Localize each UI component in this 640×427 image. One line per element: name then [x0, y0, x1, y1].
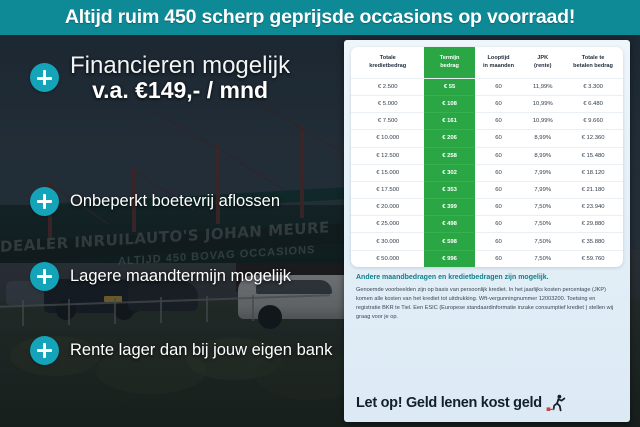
- plus-icon: [30, 63, 59, 92]
- table-row: € 20.000€ 399607,50%€ 23.940: [351, 199, 623, 216]
- table-cell-2: 60: [475, 130, 523, 147]
- table-cell-4: € 15.480: [563, 147, 623, 164]
- table-cell-1: € 55: [424, 78, 474, 95]
- table-cell-3: 11,99%: [522, 78, 563, 95]
- disclaimer-heading: Andere maandbedragen en kredietbedragen …: [356, 273, 618, 282]
- benefit-label: Lagere maandtermijn mogelijk: [70, 267, 291, 286]
- benefit-item-maandtermijn: Lagere maandtermijn mogelijk: [30, 262, 291, 291]
- table-row: € 17.500€ 353607,99%€ 21.180: [351, 181, 623, 198]
- table-cell-3: 8,99%: [522, 130, 563, 147]
- column-header-3: JPK(rente): [522, 47, 563, 78]
- table-cell-3: 10,99%: [522, 113, 563, 130]
- benefit-label: Onbeperkt boetevrij aflossen: [70, 192, 280, 211]
- column-header-4: Totale tebetalen bedrag: [563, 47, 623, 78]
- financing-headline-line2: v.a. €149,- / mnd: [70, 78, 290, 102]
- table-row: € 30.000€ 598607,50%€ 35.880: [351, 233, 623, 250]
- banner-headline: Altijd ruim 450 scherp geprijsde occasio…: [65, 6, 575, 29]
- table-cell-4: € 29.880: [563, 216, 623, 233]
- advertisement-banner: DEALER INRUILAUTO'S JOHAN MEURE ALTIJD 4…: [0, 0, 640, 427]
- table-cell-0: € 7.500: [351, 113, 424, 130]
- table-cell-3: 7,50%: [522, 216, 563, 233]
- table-cell-4: € 6.480: [563, 95, 623, 112]
- table-cell-2: 60: [475, 78, 523, 95]
- table-cell-1: € 206: [424, 130, 474, 147]
- table-cell-2: 60: [475, 250, 523, 267]
- table-cell-0: € 12.500: [351, 147, 424, 164]
- table-row: € 5.000€ 1086010,99%€ 6.480: [351, 95, 623, 112]
- table-cell-3: 7,50%: [522, 199, 563, 216]
- table-row: € 25.000€ 498607,50%€ 29.880: [351, 216, 623, 233]
- credit-table-card: TotalekredietbedragTermijnbedragLooptijd…: [351, 47, 623, 267]
- table-cell-2: 60: [475, 181, 523, 198]
- financing-headline-line1: Financieren mogelijk: [70, 53, 290, 78]
- table-cell-1: € 353: [424, 181, 474, 198]
- column-header-2: Looptijdin maanden: [475, 47, 523, 78]
- table-cell-1: € 258: [424, 147, 474, 164]
- table-cell-1: € 498: [424, 216, 474, 233]
- benefit-label: Rente lager dan bij jouw eigen bank: [70, 341, 332, 360]
- table-cell-0: € 15.000: [351, 164, 424, 181]
- table-cell-4: € 12.360: [563, 130, 623, 147]
- credit-table: TotalekredietbedragTermijnbedragLooptijd…: [351, 47, 623, 267]
- running-man-ball-and-chain-icon: [546, 394, 566, 412]
- table-cell-4: € 21.180: [563, 181, 623, 198]
- table-cell-4: € 18.120: [563, 164, 623, 181]
- table-cell-4: € 35.880: [563, 233, 623, 250]
- column-header-0: Totalekredietbedrag: [351, 47, 424, 78]
- disclaimer-block: Andere maandbedragen en kredietbedragen …: [344, 267, 630, 322]
- table-cell-0: € 25.000: [351, 216, 424, 233]
- benefits-list: Financieren mogelijk v.a. €149,- / mnd O…: [0, 35, 348, 427]
- table-cell-2: 60: [475, 95, 523, 112]
- column-header-1: Termijnbedrag: [424, 47, 474, 78]
- table-cell-3: 7,99%: [522, 181, 563, 198]
- table-row: € 10.000€ 206608,99%€ 12.360: [351, 130, 623, 147]
- benefit-item-financing: Financieren mogelijk v.a. €149,- / mnd: [30, 53, 290, 103]
- table-row: € 50.000€ 996607,50%€ 59.760: [351, 250, 623, 267]
- benefit-item-aflossen: Onbeperkt boetevrij aflossen: [30, 187, 280, 216]
- plus-icon: [30, 336, 59, 365]
- table-cell-0: € 50.000: [351, 250, 424, 267]
- credit-table-body: € 2.500€ 556011,99%€ 3.300€ 5.000€ 10860…: [351, 78, 623, 267]
- legal-warning: Let op! Geld lenen kost geld: [344, 394, 630, 422]
- table-row: € 7.500€ 1616010,99%€ 9.660: [351, 113, 623, 130]
- table-cell-4: € 59.760: [563, 250, 623, 267]
- table-cell-4: € 9.660: [563, 113, 623, 130]
- table-cell-0: € 2.500: [351, 78, 424, 95]
- table-row: € 2.500€ 556011,99%€ 3.300: [351, 78, 623, 95]
- table-cell-4: € 3.300: [563, 78, 623, 95]
- table-cell-4: € 23.940: [563, 199, 623, 216]
- table-cell-2: 60: [475, 216, 523, 233]
- plus-icon: [30, 262, 59, 291]
- table-cell-1: € 302: [424, 164, 474, 181]
- table-cell-3: 7,50%: [522, 250, 563, 267]
- table-cell-0: € 30.000: [351, 233, 424, 250]
- table-cell-1: € 598: [424, 233, 474, 250]
- table-cell-1: € 996: [424, 250, 474, 267]
- table-cell-2: 60: [475, 113, 523, 130]
- table-cell-1: € 399: [424, 199, 474, 216]
- credit-table-head: TotalekredietbedragTermijnbedragLooptijd…: [351, 47, 623, 78]
- benefit-item-rente: Rente lager dan bij jouw eigen bank: [30, 336, 332, 365]
- table-cell-0: € 10.000: [351, 130, 424, 147]
- table-cell-0: € 5.000: [351, 95, 424, 112]
- table-cell-3: 7,99%: [522, 164, 563, 181]
- table-row: € 15.000€ 302607,99%€ 18.120: [351, 164, 623, 181]
- table-cell-3: 10,99%: [522, 95, 563, 112]
- credit-info-panel: TotalekredietbedragTermijnbedragLooptijd…: [344, 40, 630, 422]
- table-cell-2: 60: [475, 199, 523, 216]
- table-cell-0: € 20.000: [351, 199, 424, 216]
- table-row: € 12.500€ 258608,99%€ 15.480: [351, 147, 623, 164]
- table-cell-2: 60: [475, 233, 523, 250]
- table-cell-0: € 17.500: [351, 181, 424, 198]
- table-cell-3: 8,99%: [522, 147, 563, 164]
- table-cell-3: 7,50%: [522, 233, 563, 250]
- table-cell-1: € 161: [424, 113, 474, 130]
- disclaimer-body: Genoemde voorbeelden zijn op basis van p…: [356, 286, 618, 322]
- credit-table-header-row: TotalekredietbedragTermijnbedragLooptijd…: [351, 47, 623, 78]
- table-cell-1: € 108: [424, 95, 474, 112]
- plus-icon: [30, 187, 59, 216]
- top-banner: Altijd ruim 450 scherp geprijsde occasio…: [0, 0, 640, 35]
- table-cell-2: 60: [475, 147, 523, 164]
- legal-warning-text: Let op! Geld lenen kost geld: [356, 395, 542, 411]
- table-cell-2: 60: [475, 164, 523, 181]
